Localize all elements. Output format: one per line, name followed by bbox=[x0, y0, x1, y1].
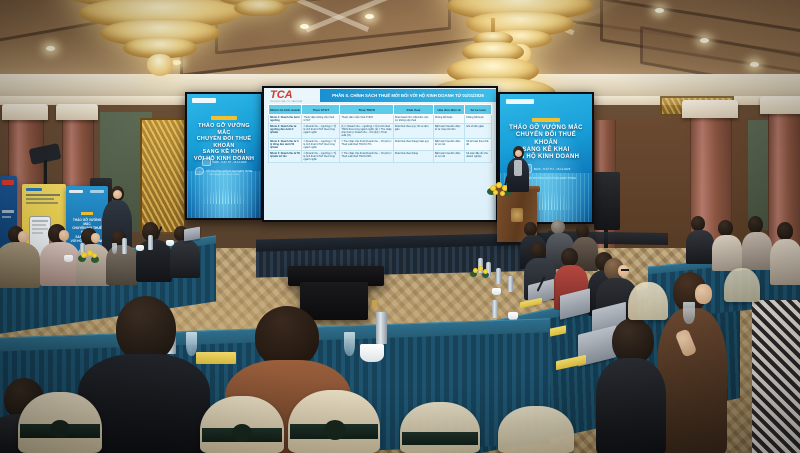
slide-corner-logo: TCA TRI THỨC TRẺ - TƯ VẤN THUẾ bbox=[270, 90, 302, 103]
table-row: Nhóm 4: Doanh thu từ 50 tỷ/năm trở lên =… bbox=[269, 151, 492, 163]
col-header: Thuế TNCN bbox=[340, 105, 394, 115]
cell-soketoan: Ghi sổ đơn giản bbox=[465, 124, 492, 139]
attendee-far-right-1 bbox=[686, 216, 712, 262]
banner-title-line: THÁO GỠ VƯỚNG MẮC bbox=[191, 123, 257, 136]
banner-title-line: CHUYỂN ĐỔI THUẾ KHOÁN bbox=[504, 132, 588, 147]
presenter-at-podium bbox=[505, 146, 531, 194]
cell-khai: Khai thuế theo quý; hồ sơ đơn giản bbox=[393, 124, 433, 139]
banner-kicker bbox=[211, 116, 237, 120]
location-pin-icon bbox=[195, 167, 204, 175]
attendee-far-right-3 bbox=[742, 216, 770, 268]
flower-centerpiece bbox=[470, 266, 490, 279]
water-bottle[interactable] bbox=[492, 300, 498, 318]
cell-group: Nhóm 3: Doanh thu từ 3 tỷ đồng đến dưới … bbox=[269, 139, 302, 151]
downlight bbox=[365, 14, 374, 19]
chair-sash-knot bbox=[324, 420, 346, 440]
chair-sash bbox=[402, 432, 478, 445]
cell-gtgt: = (Doanh thu − ngưỡng) × Tỷ lệ tính thuế… bbox=[302, 124, 340, 139]
cell-tncn: Thuộc diện miễn thuế TNCN bbox=[340, 115, 394, 124]
cell-soketoan: Kế toán đầy đủ như doanh nghiệp bbox=[465, 151, 492, 163]
col-header: Sổ kế toán bbox=[465, 105, 492, 115]
tca-logo-text: TCA bbox=[270, 90, 302, 101]
cell-gtgt: = (Doanh thu − ngưỡng) × Tỷ lệ tính thuế… bbox=[302, 151, 340, 163]
banner-address: Số 16 Nguyễn Chí Thanh, Hà Nội bbox=[193, 174, 255, 176]
table-header-row: Nhóm hộ kinh doanh Thuế GTGT Thuế TNCN K… bbox=[269, 105, 492, 115]
banner-title-left: THÁO GỠ VƯỚNG MẮC CHUYỂN ĐỔI THUẾ KHOÁN … bbox=[191, 123, 257, 163]
col-header: Hóa đơn điện tử bbox=[433, 105, 464, 115]
cell-tncn: = Thu nhập chịu thuế (Doanh thu − Chi ph… bbox=[340, 139, 394, 151]
monitor-badge bbox=[372, 300, 377, 307]
table-row: Nhóm 1: Doanh thu dưới ngưỡng Thuộc diện… bbox=[269, 115, 492, 124]
tea-cup[interactable] bbox=[166, 240, 174, 246]
banner-place: HỘI TRƯỜNG KHÁCH SẠN AMMY HOTEL bbox=[528, 177, 577, 180]
water-bottle[interactable] bbox=[122, 238, 127, 254]
downlight bbox=[46, 46, 55, 51]
water-glass-held[interactable] bbox=[683, 302, 695, 324]
cell-hoadon: Bắt buộc hóa đơn điện tử có mã bbox=[433, 151, 464, 163]
banquet-chair[interactable] bbox=[498, 406, 574, 453]
banquet-chair[interactable] bbox=[400, 402, 480, 453]
attendee-far-right-2 bbox=[712, 220, 740, 268]
chair-sash-knot bbox=[232, 424, 252, 442]
column-capital bbox=[682, 100, 738, 118]
attendee-left-5 bbox=[136, 222, 170, 280]
cell-soketoan: Sổ kế toán theo chế độ bbox=[465, 139, 492, 151]
attendee-left-4 bbox=[106, 230, 136, 282]
eyeglasses bbox=[621, 269, 629, 271]
col-header: Nhóm hộ kinh doanh bbox=[269, 105, 302, 115]
projection-screen-center: TCA TRI THỨC TRẺ - TƯ VẤN THUẾ PHẦN II. … bbox=[262, 86, 498, 222]
cell-hoadon: Không bắt buộc bbox=[433, 115, 464, 124]
calendar-icon bbox=[202, 158, 211, 166]
column-capital bbox=[760, 96, 800, 114]
cell-tncn: = Thu nhập chịu thuế (Doanh thu − Chi ph… bbox=[340, 151, 394, 163]
banquet-chair[interactable] bbox=[724, 268, 760, 302]
downlight bbox=[655, 8, 664, 13]
pa-speaker-right bbox=[594, 172, 620, 230]
wine-glass[interactable] bbox=[112, 243, 117, 254]
cell-hoadon: Bắt buộc hóa đơn điện tử từ máy tính tiề… bbox=[433, 124, 464, 139]
water-bottle[interactable] bbox=[496, 268, 501, 284]
attendee-left-1 bbox=[0, 226, 40, 286]
tea-cup[interactable] bbox=[360, 344, 384, 362]
tca-logo-sub: TRI THỨC TRẺ - TƯ VẤN THUẾ bbox=[270, 101, 302, 103]
cell-khai: Khai doanh thu 1 lần/năm nếu có; không n… bbox=[393, 115, 433, 124]
attendee-checkered-coat bbox=[752, 300, 800, 453]
banner-logo bbox=[506, 99, 534, 104]
cell-khai: Khai thuế theo tháng hoặc quý bbox=[393, 139, 433, 151]
banner-sound-wave bbox=[201, 188, 247, 204]
cell-tncn: (1) = (Doanh thu − ngưỡng) × tỷ lệ tính … bbox=[340, 124, 394, 139]
banner-kicker bbox=[532, 118, 560, 122]
flower-centerpiece bbox=[78, 250, 100, 264]
cell-group: Nhóm 4: Doanh thu từ 50 tỷ/năm trở lên bbox=[269, 151, 302, 163]
tea-cup[interactable] bbox=[64, 255, 73, 262]
table-row: Nhóm 3: Doanh thu từ 3 tỷ đồng đến dưới … bbox=[269, 139, 492, 151]
chair-sash-knot bbox=[50, 420, 70, 438]
banner-logo bbox=[192, 98, 216, 103]
banner-time: 8H00 - THỨ TƯ - 16.12.2025 bbox=[213, 161, 247, 164]
cell-gtgt: = (Doanh thu − ngưỡng) × Tỷ lệ tính thuế… bbox=[302, 139, 340, 151]
table-row: Nhóm 2: Doanh thu từ ngưỡng đến dưới 3 t… bbox=[269, 124, 492, 139]
tea-cup[interactable] bbox=[136, 245, 144, 251]
tea-cup[interactable] bbox=[492, 288, 501, 295]
column-capital bbox=[2, 104, 48, 120]
attendee-far-right-4 bbox=[770, 222, 800, 282]
downlight bbox=[750, 62, 759, 67]
water-bottle[interactable] bbox=[508, 276, 513, 292]
projection-screen-left: THÁO GỠ VƯỚNG MẮC CHUYỂN ĐỔI THUẾ KHOÁN … bbox=[185, 92, 263, 220]
water-bottle[interactable] bbox=[376, 312, 387, 344]
banner-time: 8H00 - THỨ TƯ - 16.12.2025 bbox=[534, 167, 571, 171]
col-header: Thuế GTGT bbox=[302, 105, 340, 115]
water-bottle[interactable] bbox=[148, 235, 153, 250]
chandelier bbox=[200, 0, 320, 36]
cell-gtgt: Thuộc diện không chịu thuế GTGT bbox=[302, 115, 340, 124]
downlight bbox=[700, 38, 709, 43]
banner-wave-graphic bbox=[187, 171, 261, 218]
banner-title-line: SANG KÊ KHAI bbox=[191, 149, 257, 156]
banquet-chair[interactable] bbox=[628, 282, 668, 320]
conference-room-photo: THÁO GỠ VƯỚNG MẮC CHUYỂN ĐỔI THUẾ KHOÁN … bbox=[0, 0, 800, 453]
col-header: Khai thuế bbox=[393, 105, 433, 115]
banner-place: HỘI TRƯỜNG KHÁCH SẠN AMMY HOTEL bbox=[206, 170, 253, 173]
column-capital bbox=[56, 104, 98, 120]
attendee-left-2 bbox=[42, 224, 78, 282]
cell-group: Nhóm 1: Doanh thu dưới ngưỡng bbox=[269, 115, 302, 124]
banner-title-line: CHUYỂN ĐỔI THUẾ KHOÁN bbox=[191, 136, 257, 149]
cell-khai: Khai thuế theo tháng bbox=[393, 151, 433, 163]
cell-hoadon: Bắt buộc hóa đơn điện tử có mã bbox=[433, 139, 464, 151]
cell-soketoan: Không bắt buộc bbox=[465, 115, 492, 124]
foreground-attendee-right-edge bbox=[596, 318, 666, 453]
cell-group: Nhóm 2: Doanh thu từ ngưỡng đến dưới 3 t… bbox=[269, 124, 302, 139]
podium-emblem bbox=[511, 208, 523, 222]
tax-policy-table: Nhóm hộ kinh doanh Thuế GTGT Thuế TNCN K… bbox=[268, 104, 492, 163]
slide-header: PHẦN II. CHÍNH SÁCH THUẾ MỚI ĐỐI VỚI HỘ … bbox=[320, 89, 496, 102]
wall-gold-art-panel bbox=[140, 118, 186, 234]
